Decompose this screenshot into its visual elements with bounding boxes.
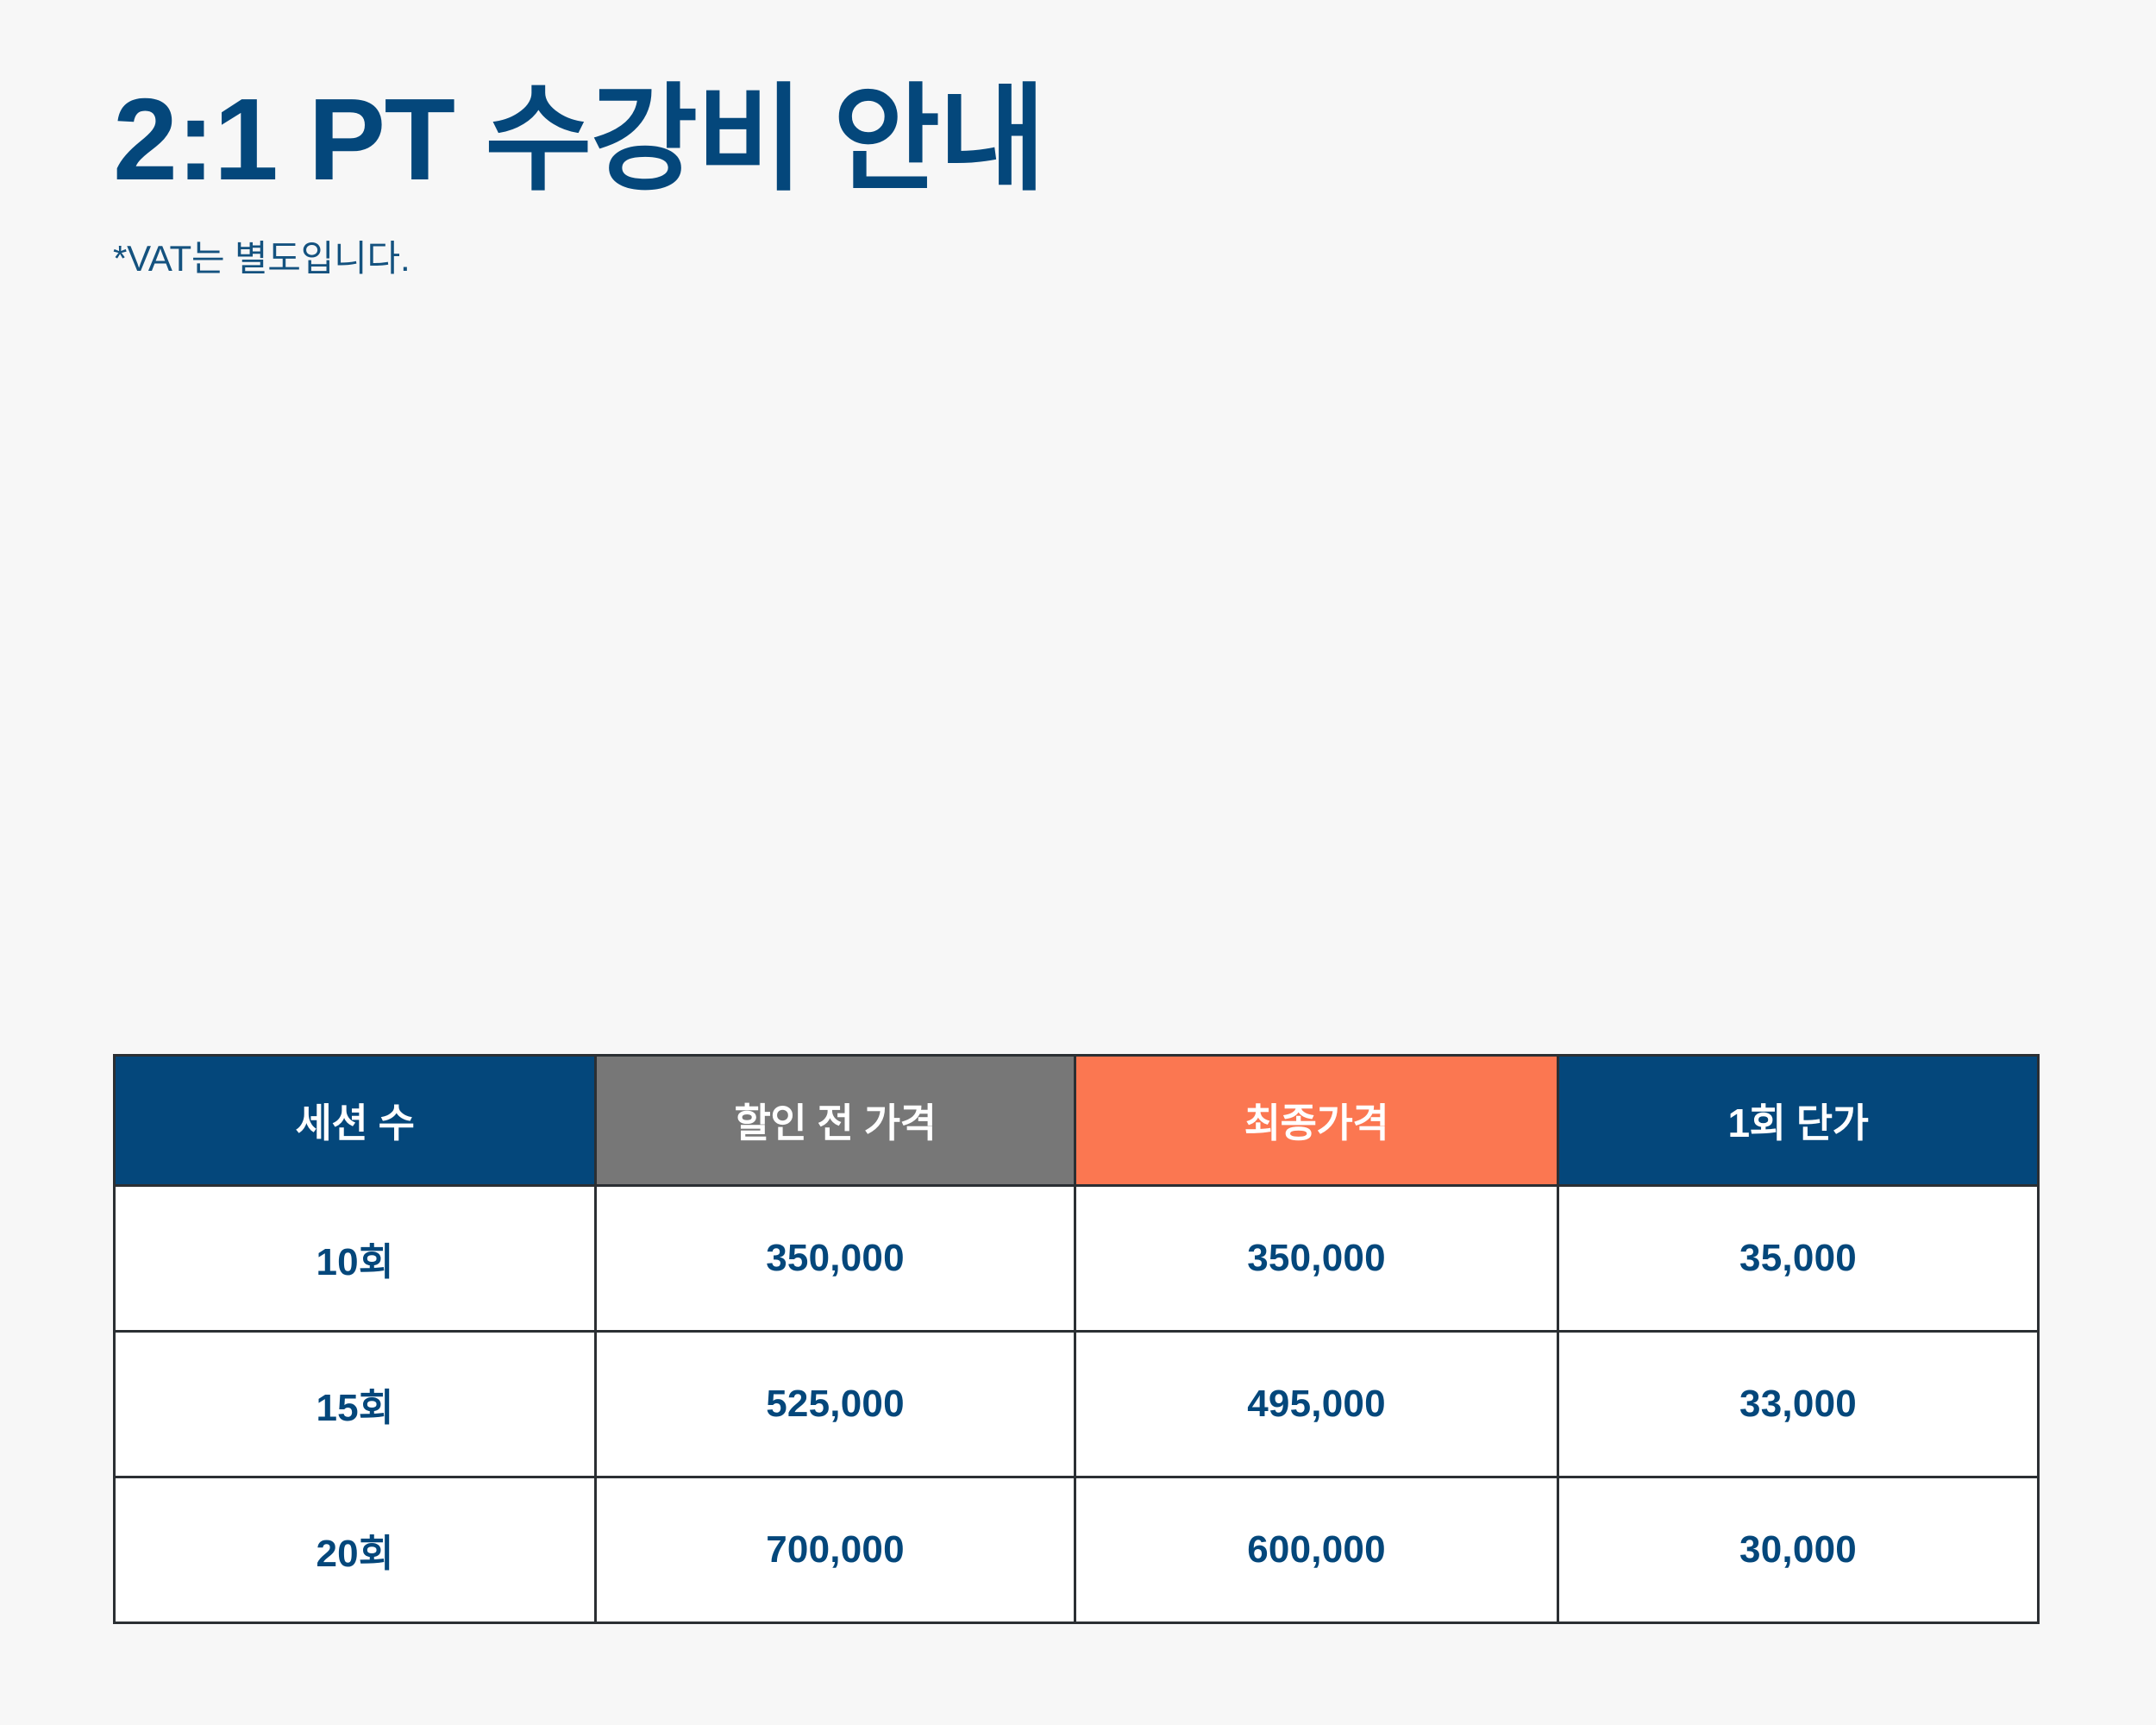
cell-price-before-discount: 525,000: [596, 1332, 1075, 1477]
cell-price-before-discount: 700,000: [596, 1477, 1075, 1623]
column-header-sessions: 세션 수: [115, 1056, 596, 1186]
cell-unit-price: 33,000: [1558, 1332, 2039, 1477]
page-title: 2:1 PT 수강비 안내: [113, 74, 1044, 204]
cell-unit-price: 30,000: [1558, 1477, 2039, 1623]
cell-final-price: 350,000: [1075, 1186, 1558, 1332]
table-body: 10회 350,000 350,000 35,000 15회 525,000 4…: [115, 1186, 2039, 1623]
table-header: 세션 수 할인 전 가격 최종가격 1회 단가: [115, 1056, 2039, 1186]
cell-sessions: 20회: [115, 1477, 596, 1623]
column-header-price-before-discount: 할인 전 가격: [596, 1056, 1075, 1186]
cell-final-price: 600,000: [1075, 1477, 1558, 1623]
cell-sessions: 10회: [115, 1186, 596, 1332]
pricing-table-container: 세션 수 할인 전 가격 최종가격 1회 단가 10회 350,000 350,…: [113, 1054, 2037, 1624]
pricing-slide: 2:1 PT 수강비 안내 *VAT는 별도입니다. 세션 수 할인 전 가격 …: [0, 0, 2156, 1725]
cell-final-price: 495,000: [1075, 1332, 1558, 1477]
table-header-row: 세션 수 할인 전 가격 최종가격 1회 단가: [115, 1056, 2039, 1186]
header-block: 2:1 PT 수강비 안내 *VAT는 별도입니다.: [113, 74, 1044, 281]
cell-price-before-discount: 350,000: [596, 1186, 1075, 1332]
table-row: 10회 350,000 350,000 35,000: [115, 1186, 2039, 1332]
pricing-table: 세션 수 할인 전 가격 최종가격 1회 단가 10회 350,000 350,…: [113, 1054, 2040, 1624]
vat-note: *VAT는 별도입니다.: [113, 204, 1044, 280]
cell-sessions: 15회: [115, 1332, 596, 1477]
column-header-unit-price: 1회 단가: [1558, 1056, 2039, 1186]
table-row: 20회 700,000 600,000 30,000: [115, 1477, 2039, 1623]
table-row: 15회 525,000 495,000 33,000: [115, 1332, 2039, 1477]
cell-unit-price: 35,000: [1558, 1186, 2039, 1332]
column-header-final-price: 최종가격: [1075, 1056, 1558, 1186]
